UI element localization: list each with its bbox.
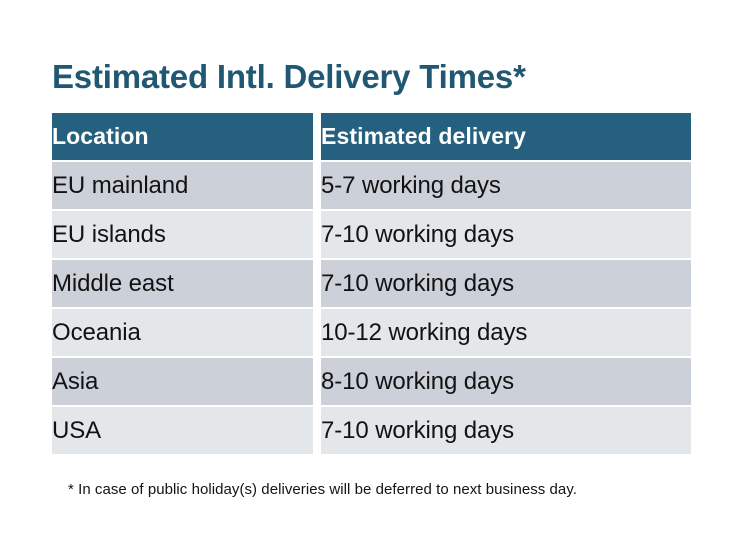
delivery-times-table: Location Estimated delivery EU mainland … <box>52 113 691 454</box>
column-gap <box>313 113 321 160</box>
column-gap <box>313 358 321 405</box>
table-body: EU mainland 5-7 working days EU islands … <box>52 160 691 454</box>
column-gap <box>313 407 321 454</box>
table-row: USA 7-10 working days <box>52 407 691 454</box>
cell-delivery: 8-10 working days <box>321 358 691 405</box>
table-row: EU mainland 5-7 working days <box>52 162 691 209</box>
cell-location: Oceania <box>52 309 313 356</box>
column-gap <box>313 162 321 209</box>
table-row: Asia 8-10 working days <box>52 358 691 405</box>
cell-location: EU islands <box>52 211 313 258</box>
table-header: Location Estimated delivery <box>52 113 691 160</box>
column-header-location: Location <box>52 113 313 160</box>
cell-delivery: 7-10 working days <box>321 211 691 258</box>
cell-delivery: 7-10 working days <box>321 260 691 307</box>
footnote: * In case of public holiday(s) deliverie… <box>68 481 577 498</box>
column-gap <box>313 211 321 258</box>
table-row: Middle east 7-10 working days <box>52 260 691 307</box>
cell-location: Asia <box>52 358 313 405</box>
cell-location: Middle east <box>52 260 313 307</box>
column-gap <box>313 309 321 356</box>
page-title: Estimated Intl. Delivery Times* <box>52 59 526 95</box>
table-header-row: Location Estimated delivery <box>52 113 691 160</box>
cell-location: EU mainland <box>52 162 313 209</box>
table-row: EU islands 7-10 working days <box>52 211 691 258</box>
cell-delivery: 10-12 working days <box>321 309 691 356</box>
column-gap <box>313 260 321 307</box>
cell-delivery: 5-7 working days <box>321 162 691 209</box>
delivery-times-page: Estimated Intl. Delivery Times* Location… <box>0 0 745 536</box>
cell-delivery: 7-10 working days <box>321 407 691 454</box>
column-header-estimated-delivery: Estimated delivery <box>321 113 691 160</box>
cell-location: USA <box>52 407 313 454</box>
table-row: Oceania 10-12 working days <box>52 309 691 356</box>
